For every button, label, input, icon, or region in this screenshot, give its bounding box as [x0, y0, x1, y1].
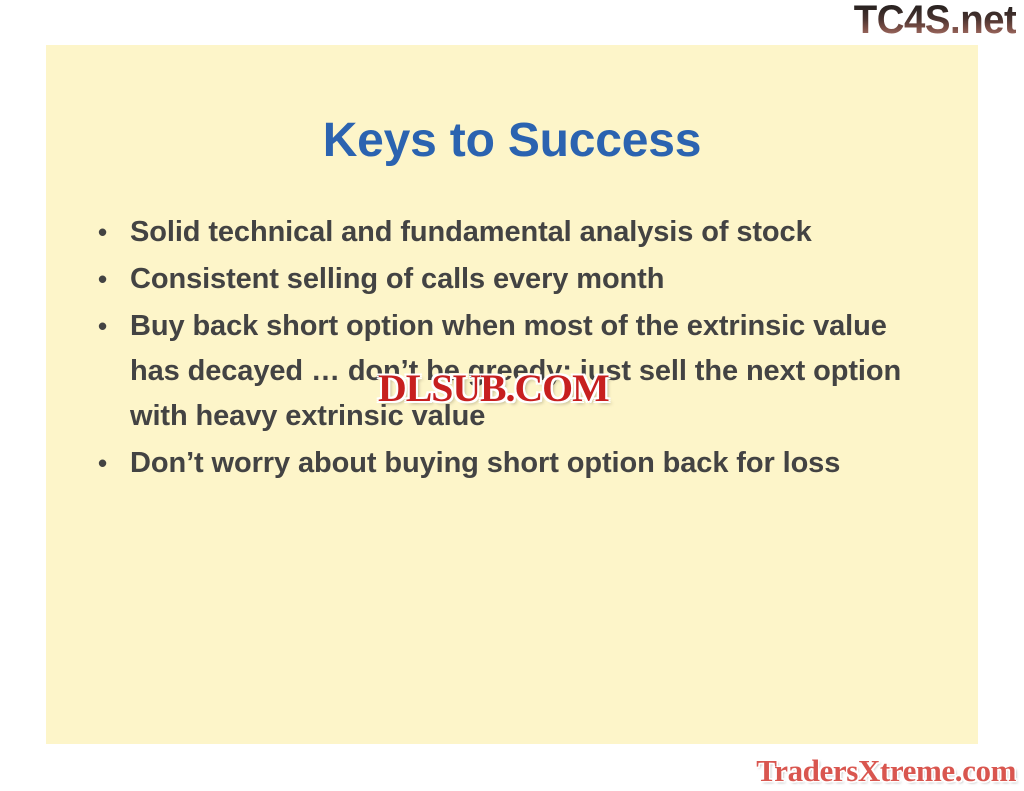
- bullet-text: Don’t worry about buying short option ba…: [130, 441, 952, 486]
- slide-page: { "branding": { "top_logo": "TC4S.net", …: [0, 0, 1024, 791]
- top-brand-logo: TC4S.net: [853, 0, 1016, 42]
- list-item: • Don’t worry about buying short option …: [92, 441, 952, 486]
- bullet-text: Solid technical and fundamental analysis…: [130, 210, 952, 255]
- bottom-brand-logo: TradersXtreme.com: [756, 754, 1016, 788]
- bullet-marker-icon: •: [92, 210, 130, 255]
- bullet-marker-icon: •: [92, 257, 130, 302]
- bullet-marker-icon: •: [92, 441, 130, 486]
- bullet-marker-icon: •: [92, 304, 130, 349]
- page-title: Keys to Success: [46, 113, 978, 169]
- watermark-overlay: DLSUB.COM: [378, 369, 609, 409]
- bullet-list: • Solid technical and fundamental analys…: [92, 210, 952, 488]
- list-item: • Consistent selling of calls every mont…: [92, 257, 952, 302]
- bullet-text: Consistent selling of calls every month: [130, 257, 952, 302]
- list-item: • Solid technical and fundamental analys…: [92, 210, 952, 255]
